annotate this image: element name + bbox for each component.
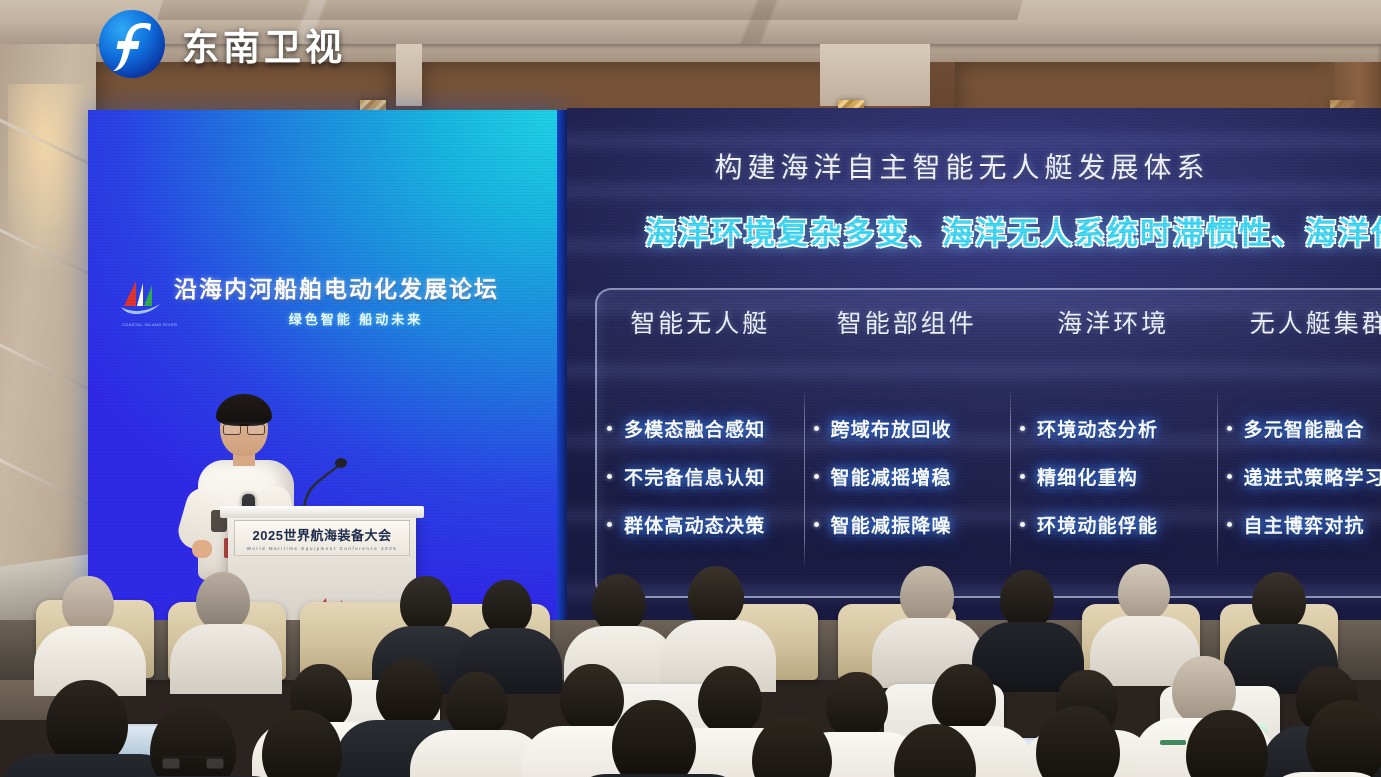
podium-top	[220, 506, 424, 518]
slide-title: 构建海洋自主智能无人艇发展体系	[567, 146, 1357, 186]
channel-logo-bug: 东南卫视	[96, 8, 346, 80]
slide-columns: 智能无人艇 多模态融合感知 不完备信息认知 群体高动态决策	[597, 290, 1381, 596]
bullet-label: 跨域布放回收	[831, 415, 952, 442]
wall-light-glow	[8, 84, 96, 274]
forum-branding: COASTAL INLAND RIVER 沿海内河船舶电动化发展论坛 绿色智能 …	[118, 270, 538, 328]
bullet-dot-icon	[1227, 522, 1232, 527]
column-bullets: 跨域布放回收 智能减摇增稳 智能减振降噪	[804, 404, 1011, 548]
column-header: 智能部组件	[804, 304, 1011, 340]
speaker-left-hand	[192, 540, 212, 558]
bullet-item: 多元智能融合	[1217, 404, 1381, 452]
bullet-label: 自主博弈对抗	[1244, 511, 1365, 538]
bullet-item: 递进式策略学习	[1217, 452, 1381, 500]
column-header: 海洋环境	[1010, 304, 1217, 340]
bullet-label: 智能减摇增稳	[831, 463, 952, 490]
bullet-dot-icon	[1020, 474, 1025, 479]
sail-logo: COASTAL INLAND RIVER	[118, 276, 164, 322]
slide-content-panel: 智能无人艇 多模态融合感知 不完备信息认知 群体高动态决策	[595, 288, 1381, 598]
bullet-item: 智能减摇增稳	[804, 452, 1011, 500]
bullet-dot-icon	[1020, 426, 1025, 431]
broadcast-frame: COASTAL INLAND RIVER 沿海内河船舶电动化发展论坛 绿色智能 …	[0, 0, 1381, 777]
logo-caption: COASTAL INLAND RIVER	[122, 322, 177, 327]
slide-column-3: 海洋环境 环境动态分析 精细化重构 环境动能俘能	[1010, 290, 1217, 596]
audience-seating	[0, 560, 1381, 777]
pillar	[396, 44, 422, 106]
bullet-item: 环境动态分析	[1010, 404, 1217, 452]
forum-subtitle: 绿色智能 船动未来	[174, 309, 538, 328]
column-bullets: 多模态融合感知 不完备信息认知 群体高动态决策	[597, 404, 804, 548]
bullet-label: 群体高动态决策	[624, 511, 765, 538]
column-bullets: 多元智能融合 递进式策略学习 自主博弈对抗	[1217, 404, 1381, 548]
pillar	[820, 44, 930, 106]
podium-sign: 2025世界航海装备大会 World Maritime Equipment Co…	[234, 520, 410, 556]
bullet-item: 群体高动态决策	[597, 500, 804, 548]
bullet-dot-icon	[1020, 522, 1025, 527]
bullet-dot-icon	[814, 474, 819, 479]
southeast-tv-logo-icon	[96, 8, 168, 80]
bullet-dot-icon	[814, 522, 819, 527]
bullet-label: 不完备信息认知	[624, 463, 765, 490]
bullet-item: 环境动能俘能	[1010, 500, 1217, 548]
podium-sign-title: 2025世界航海装备大会	[253, 525, 392, 544]
bullet-item: 跨域布放回收	[804, 404, 1011, 452]
eyeglasses	[223, 422, 265, 431]
bullet-label: 环境动态分析	[1037, 415, 1158, 442]
bullet-label: 多模态融合感知	[624, 415, 765, 442]
bullet-label: 精细化重构	[1037, 463, 1138, 490]
column-bullets: 环境动态分析 精细化重构 环境动能俘能	[1010, 404, 1217, 548]
column-header: 智能无人艇	[597, 304, 804, 340]
bullet-dot-icon	[1227, 474, 1232, 479]
eyeglasses	[162, 756, 224, 765]
podium-sign-subtitle: World Maritime Equipment Conference 2025	[247, 546, 398, 551]
bullet-item: 自主博弈对抗	[1217, 500, 1381, 548]
channel-name: 东南卫视	[182, 17, 346, 71]
bullet-dot-icon	[814, 426, 819, 431]
bullet-dot-icon	[607, 474, 612, 479]
bullet-dot-icon	[1227, 426, 1232, 431]
bullet-label: 智能减振降噪	[831, 511, 952, 538]
column-header: 无人艇集群	[1217, 304, 1381, 340]
bullet-dot-icon	[607, 426, 612, 431]
slide-column-2: 智能部组件 跨域布放回收 智能减摇增稳 智能减振降噪	[804, 290, 1011, 596]
bullet-item: 不完备信息认知	[597, 452, 804, 500]
bullet-item: 多模态融合感知	[597, 404, 804, 452]
bullet-label: 递进式策略学习	[1244, 463, 1381, 490]
bullet-label: 环境动能俘能	[1037, 511, 1158, 538]
bullet-label: 多元智能融合	[1244, 415, 1365, 442]
lanyard	[1160, 740, 1186, 745]
forum-title: 沿海内河船舶电动化发展论坛	[174, 270, 538, 304]
slide-subtitle: 海洋环境复杂多变、海洋无人系统时滞惯性、海洋任务	[645, 208, 1381, 253]
slide-column-1: 智能无人艇 多模态融合感知 不完备信息认知 群体高动态决策	[597, 290, 804, 596]
bullet-item: 智能减振降噪	[804, 500, 1011, 548]
bullet-item: 精细化重构	[1010, 452, 1217, 500]
bullet-dot-icon	[607, 522, 612, 527]
slide-column-4: 无人艇集群 多元智能融合 递进式策略学习 自主博弈对抗	[1217, 290, 1381, 596]
